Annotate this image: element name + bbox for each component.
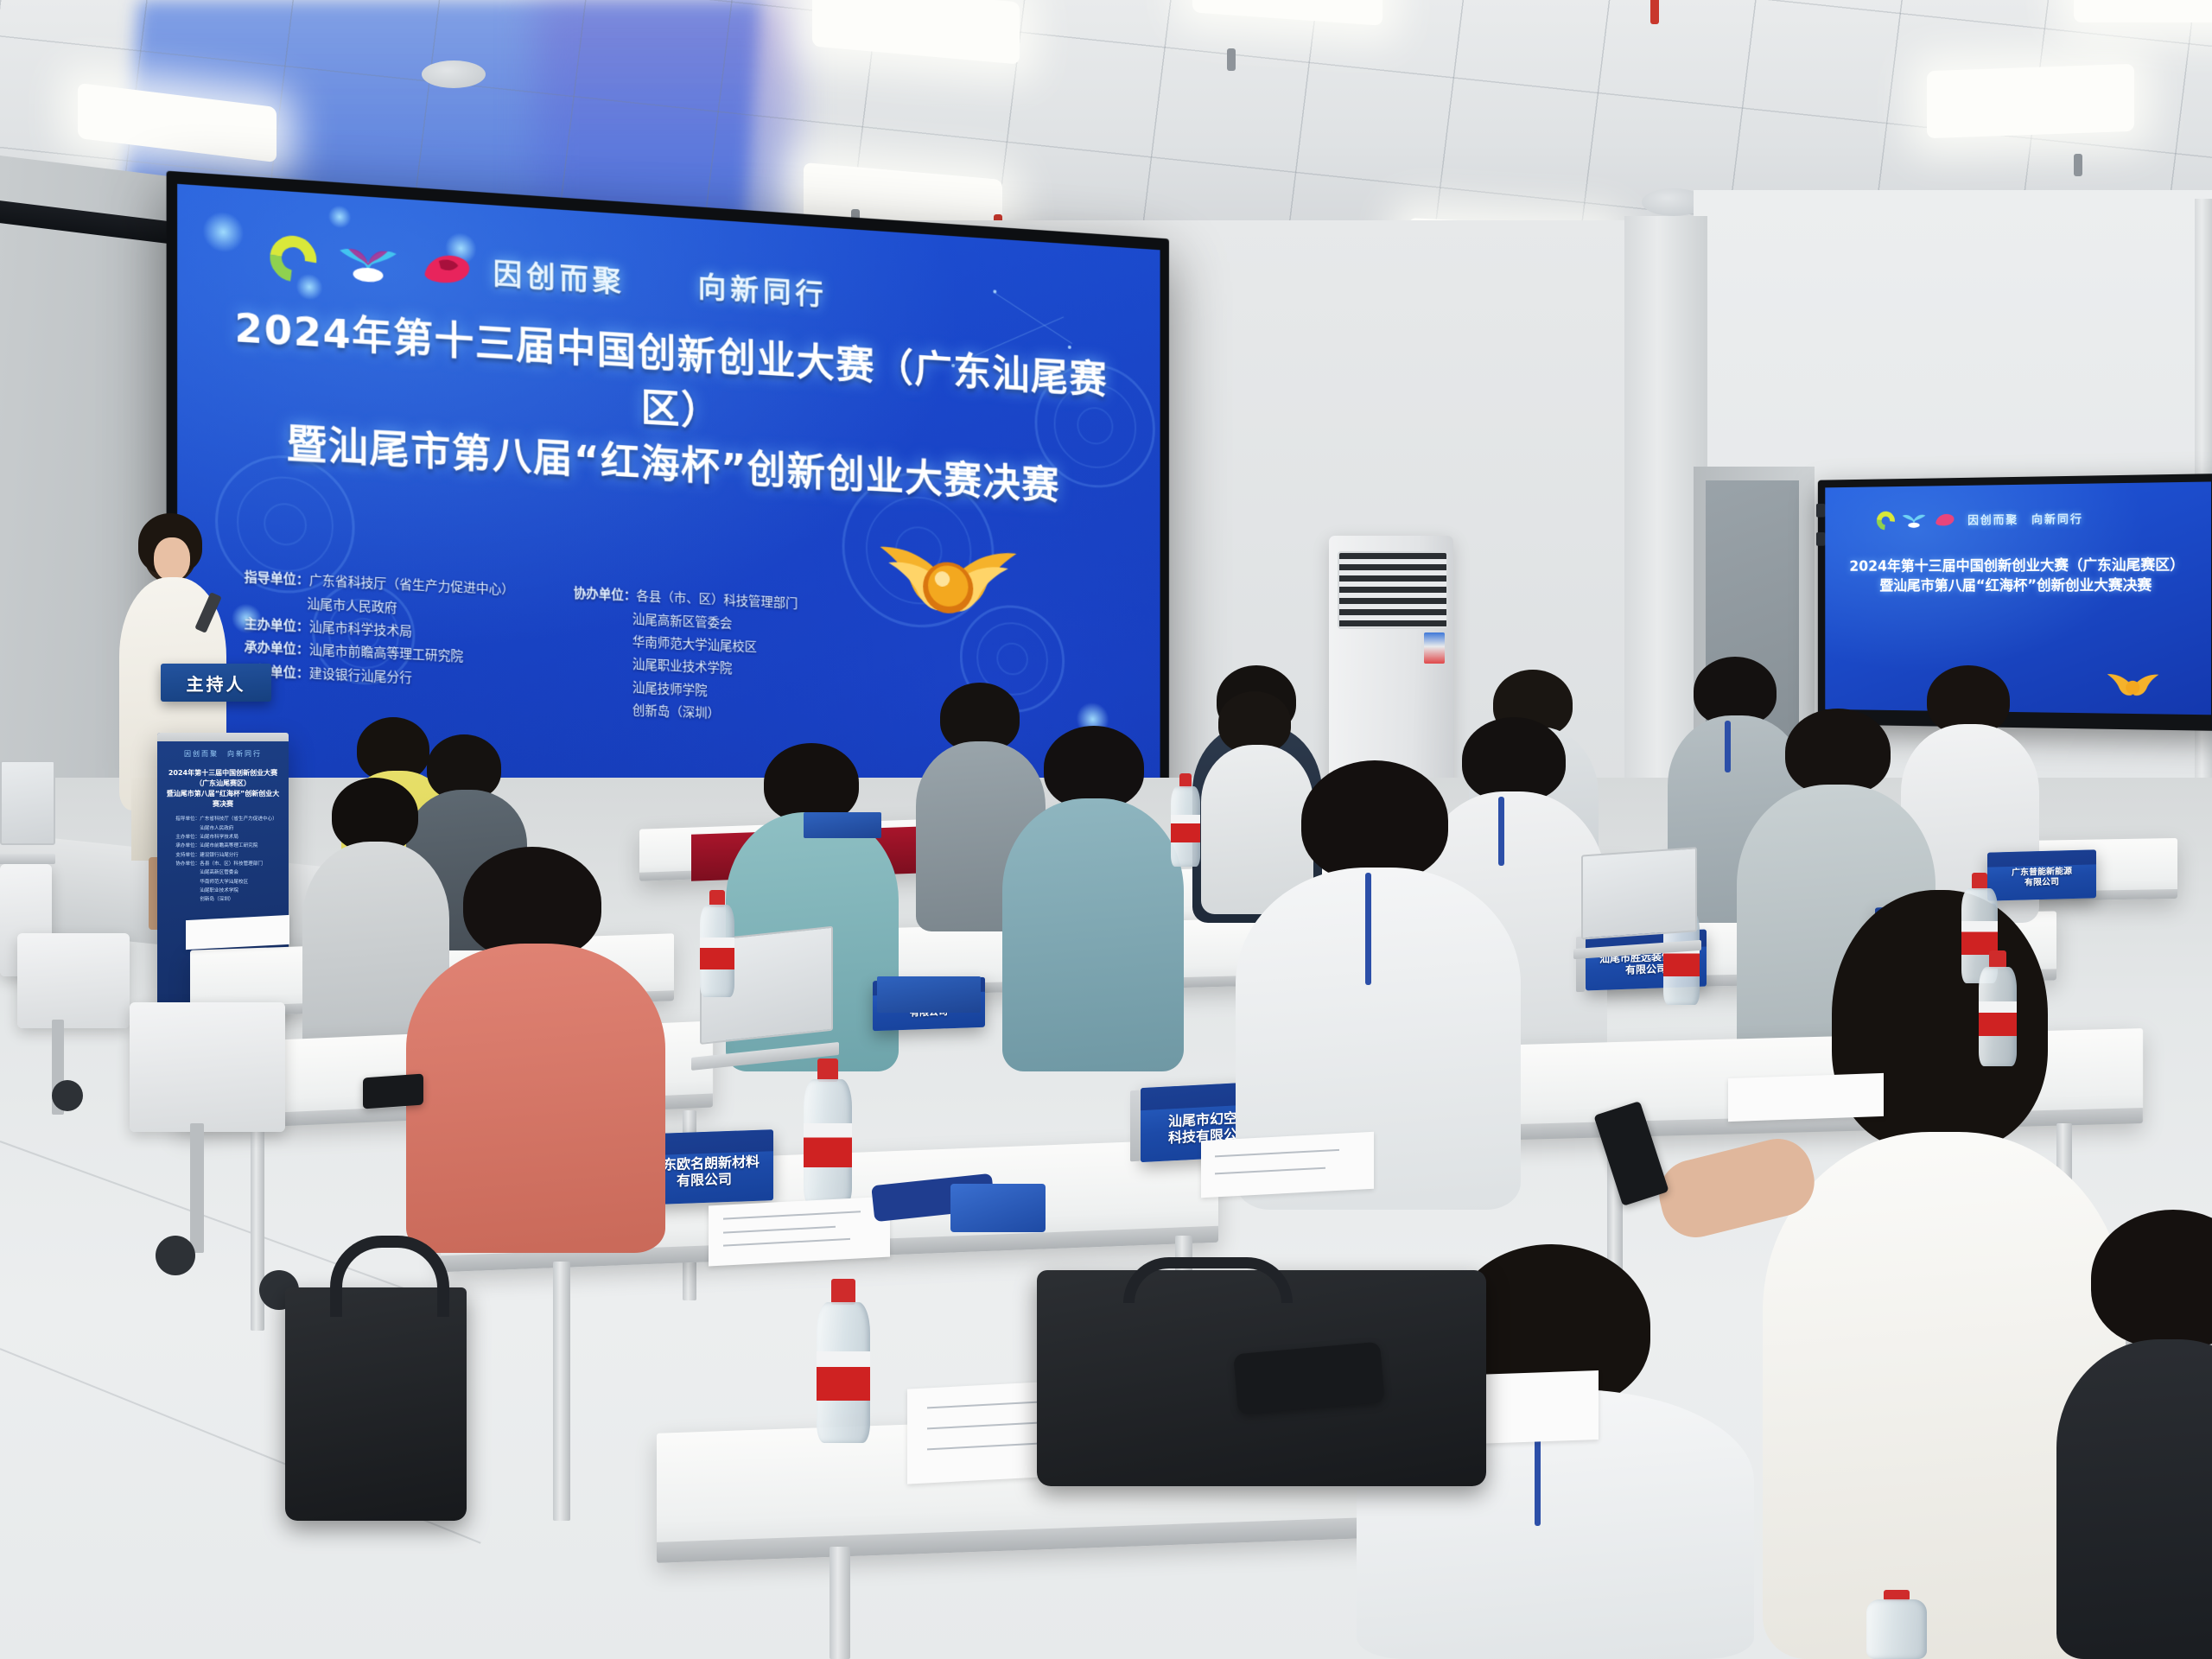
- paper-text-line: [1215, 1167, 1325, 1175]
- ac-grille: [1338, 551, 1448, 629]
- lectern-org-line: 汕尾高新区管委会: [175, 868, 278, 877]
- c-leaf-logo-icon: [1877, 512, 1895, 531]
- document-paper[interactable]: [186, 915, 289, 950]
- lectern-org-line: 汕尾市人民政府: [175, 824, 278, 833]
- lectern-org-list: 指导单位：广东省科技厅（省生产力促进中心） 汕尾市人民政府 主办单位：汕尾市科学…: [175, 815, 278, 904]
- host-name-plate: 主持人: [161, 664, 271, 702]
- bottle-label: [1171, 815, 1200, 842]
- laptop[interactable]: [1581, 847, 1694, 958]
- audience-member: [1002, 726, 1184, 1071]
- document-paper[interactable]: [1201, 1132, 1374, 1198]
- tv-slogan-text: 因创而聚 向新同行: [1967, 510, 2083, 527]
- org-value: 汕尾市科学技术局: [309, 620, 412, 639]
- hair: [2091, 1210, 2212, 1348]
- chair-caster: [156, 1236, 195, 1275]
- placard-line2: 有限公司: [2012, 877, 2072, 889]
- audience-member-far-right: [2056, 1210, 2212, 1659]
- lectern-org-line: 创新岛（深圳）: [175, 895, 278, 904]
- handbag-handle: [330, 1236, 449, 1317]
- laptop-base: [0, 854, 55, 864]
- smoke-detector: [422, 60, 486, 88]
- paper-text-line: [723, 1226, 836, 1234]
- water-bottle[interactable]: [804, 1058, 852, 1205]
- organizers-right-column: 协办单位：各县（市、区）科技管理部门 汕尾高新区管委会 华南师范大学汕尾校区 汕…: [574, 582, 798, 729]
- c-leaf-logo-icon: [270, 234, 316, 283]
- hair: [1301, 760, 1448, 881]
- screen-slogan-right: 向新同行: [698, 264, 828, 313]
- ceiling-led-panel: [1927, 64, 2134, 138]
- lanyard: [1725, 721, 1731, 772]
- table-leg: [553, 1262, 570, 1521]
- sprinkler-head: [1227, 48, 1236, 71]
- bottle-label: [804, 1123, 852, 1167]
- bokeh-light: [328, 205, 352, 229]
- sprinkler-head: [2074, 154, 2082, 176]
- tv-menu-button[interactable]: [1816, 532, 1825, 546]
- screen-organizer-block: 指导单位：广东省科技厅（省生产力促进中心） 汕尾市人民政府 主办单位：汕尾市科学…: [245, 567, 798, 729]
- lectern-title-line1: 2024年第十三届中国创新创业大赛（广东汕尾赛区）: [164, 768, 283, 789]
- org-label: 指导单位：: [245, 571, 309, 588]
- lanyard: [1365, 873, 1371, 985]
- paper-text-line: [1215, 1149, 1339, 1158]
- lectern-org-line: 华南师范大学汕尾校区: [175, 878, 278, 887]
- lectern-title-block: 2024年第十三届中国创新创业大赛（广东汕尾赛区） 暨汕尾市第八届“红海杯”创新…: [164, 768, 283, 810]
- handbag[interactable]: [285, 1287, 467, 1521]
- bottle-label: [700, 938, 734, 969]
- lectern-top-surface: [157, 733, 289, 741]
- empty-chair[interactable]: [17, 933, 130, 1028]
- ac-energy-label: [1424, 632, 1445, 664]
- bag-handle: [1123, 1257, 1293, 1303]
- empty-chair[interactable]: [130, 1002, 285, 1132]
- org-label: 承办单位：: [245, 641, 309, 658]
- water-bottle[interactable]: [1866, 1590, 1927, 1659]
- chair-caster: [52, 1080, 83, 1111]
- ceiling-led-panel: [2074, 0, 2212, 22]
- lectern-org-line: 协办单位：各县（市、区）科技管理部门: [175, 860, 278, 868]
- hair: [1044, 726, 1144, 809]
- wing-eagle-logo-icon: [1901, 512, 1928, 529]
- screen-slogan-left: 因创而聚: [493, 251, 626, 301]
- organizers-left-column: 指导单位：广东省科技厅（省生产力促进中心） 汕尾市人民政府 主办单位：汕尾市科学…: [245, 567, 514, 718]
- hair: [1785, 709, 1891, 795]
- lectern-title-line2: 暨汕尾市第八届“红海杯”创新创业大赛决赛: [164, 789, 283, 810]
- small-desk-sign: [877, 976, 981, 1013]
- placard-line2: 有限公司: [649, 1170, 760, 1191]
- org-label: 主办单位：: [245, 618, 309, 635]
- placard-stand: [1130, 1090, 1141, 1162]
- lectern-org-line: 支持单位：建设银行汕尾分行: [175, 851, 278, 860]
- torso: [1002, 798, 1184, 1071]
- laptop-lid: [0, 760, 55, 845]
- host-face: [154, 537, 190, 581]
- screen-main-title: 2024年第十三届中国创新创业大赛（广东汕尾赛区） 暨汕尾市第八届“红海杯”创新…: [213, 299, 1128, 518]
- smartphone[interactable]: [1233, 1342, 1384, 1415]
- laptop[interactable]: [0, 760, 52, 864]
- network-node: [1068, 346, 1071, 349]
- table-leg: [829, 1547, 850, 1659]
- org-value: 各县（市、区）科技管理部门: [636, 590, 798, 612]
- bottle-label: [817, 1351, 870, 1401]
- small-desk-sign: [804, 812, 881, 838]
- torso: [2056, 1339, 2212, 1659]
- org-label: 协办单位：: [574, 587, 637, 604]
- host-plate-label: 主持人: [187, 671, 246, 696]
- golden-wing-emblem-icon: [858, 516, 1038, 648]
- tv-slogan-row: 因创而聚 向新同行: [1877, 508, 2163, 531]
- lectern-org-line: 主办单位：汕尾市科学技术局: [175, 833, 278, 842]
- bokeh-light: [202, 210, 244, 253]
- smartphone[interactable]: [363, 1074, 423, 1109]
- document-paper[interactable]: [1728, 1073, 1884, 1122]
- hair: [463, 847, 601, 959]
- torso: [406, 944, 665, 1253]
- golden-wing-emblem-icon: [2095, 663, 2171, 709]
- chair-leg: [190, 1123, 204, 1253]
- org-value: 汕尾市前瞻高等理工研究院: [309, 644, 463, 664]
- lectern-org-line: 承办单位：汕尾市前瞻高等理工研究院: [175, 842, 278, 850]
- water-bottle[interactable]: [1171, 773, 1200, 867]
- tv-title-block: 2024年第十三届中国创新创业大赛（广东汕尾赛区） 暨汕尾市第八届“红海杯”创新…: [1840, 554, 2195, 596]
- lectern-org-line: 汕尾职业技术学院: [175, 887, 278, 895]
- bottle-cap: [831, 1279, 855, 1305]
- bottle-body: [1866, 1599, 1927, 1659]
- water-bottle[interactable]: [700, 890, 734, 997]
- blue-badge-on-desk[interactable]: [950, 1184, 1046, 1232]
- lectern-slogan: 因创而聚 向新同行: [168, 749, 278, 759]
- red-wave-logo-icon: [419, 248, 474, 290]
- sprinkler-head: [1650, 0, 1659, 24]
- photo-scene: 因创而聚 向新同行 2024年第十三届中国创新创业大赛（广东汕尾赛区） 暨汕尾市…: [0, 0, 2212, 1659]
- hair: [764, 743, 859, 823]
- wing-eagle-logo-icon: [336, 241, 400, 285]
- water-bottle[interactable]: [817, 1279, 870, 1443]
- tv-title-line2: 暨汕尾市第八届“红海杯”创新创业大赛决赛: [1840, 575, 2195, 597]
- bottle-label: [1961, 921, 1998, 954]
- document-paper[interactable]: [709, 1196, 890, 1266]
- placard-header-band: [1987, 849, 2096, 867]
- water-bottle[interactable]: [1979, 950, 2017, 1066]
- lectern-org-line: 指导单位：广东省科技厅（省生产力促进中心）: [175, 815, 278, 823]
- paper-text-line: [723, 1238, 850, 1247]
- bottle-label: [1979, 1001, 2017, 1036]
- org-value: 建设银行汕尾分行: [309, 667, 412, 685]
- red-wave-logo-icon: [1933, 512, 1956, 528]
- audience-member-front-red: [406, 847, 665, 1253]
- paper-text-line: [723, 1211, 861, 1220]
- laptop-lid: [1581, 847, 1697, 939]
- tv-power-button[interactable]: [1816, 504, 1825, 518]
- tv-title-line1: 2024年第十三届中国创新创业大赛（广东汕尾赛区）: [1840, 554, 2195, 576]
